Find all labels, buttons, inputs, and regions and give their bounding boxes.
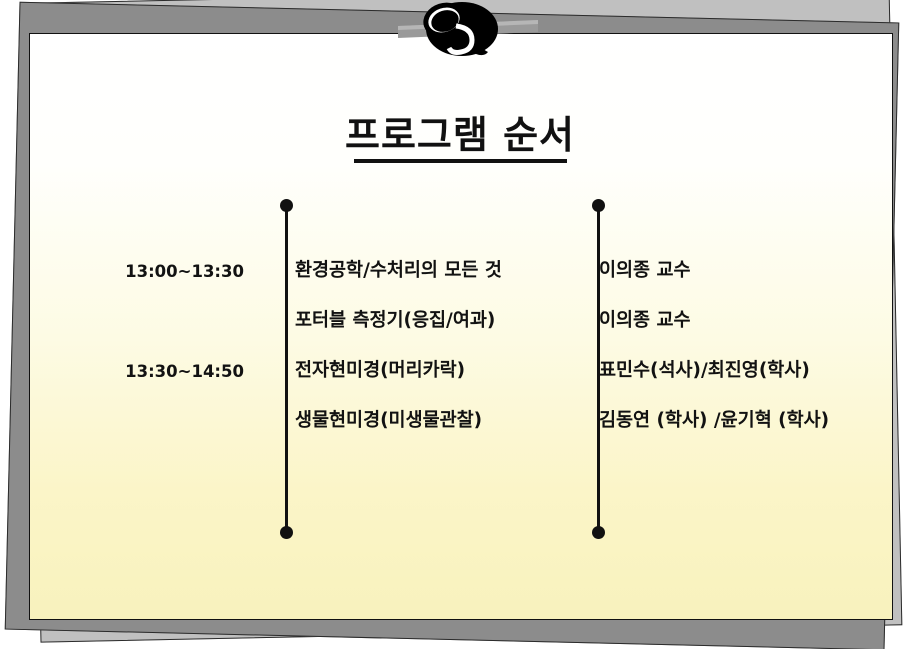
schedule-topic: 환경공학/수처리의 모든 것 bbox=[262, 262, 569, 281]
schedule-topic: 포터블 측정기(응집/여과) bbox=[262, 312, 569, 331]
schedule-speaker: 이의종 교수 bbox=[569, 312, 893, 331]
schedule-topic: 생물현미경(미생물관찰) bbox=[262, 412, 569, 431]
divider-dot-bottom-icon bbox=[592, 526, 605, 539]
schedule-speaker: 표민수(석사)/최진영(학사) bbox=[569, 362, 893, 381]
schedule-topic: 전자현미경(머리카락) bbox=[262, 362, 569, 381]
schedule-table: 13:00~13:30 환경공학/수처리의 모든 것 이의종 교수 포터블 측정… bbox=[29, 262, 893, 462]
slide-canvas: 프로그램 순서 13:00~13:30 환경공학/수처리의 모든 것 이의종 교… bbox=[0, 0, 920, 649]
divider-dot-top-icon bbox=[592, 199, 605, 212]
page-title-text: 프로그램 순서 bbox=[345, 113, 575, 157]
table-row: 생물현미경(미생물관찰) 김동연 (학사) /윤기혁 (학사) bbox=[29, 412, 893, 462]
schedule-speaker: 이의종 교수 bbox=[569, 262, 893, 281]
schedule-time: 13:30~14:50 bbox=[29, 362, 262, 381]
title-underline bbox=[354, 159, 567, 163]
page-title: 프로그램 순서 bbox=[0, 114, 920, 163]
table-row: 포터블 측정기(응집/여과) 이의종 교수 bbox=[29, 312, 893, 362]
divider-dot-bottom-icon bbox=[280, 526, 293, 539]
divider-dot-top-icon bbox=[280, 199, 293, 212]
schedule-speaker: 김동연 (학사) /윤기혁 (학사) bbox=[569, 412, 893, 431]
schedule-time: 13:00~13:30 bbox=[29, 262, 262, 281]
table-row: 13:30~14:50 전자현미경(머리카락) 표민수(석사)/최진영(학사) bbox=[29, 362, 893, 412]
schedule-time bbox=[29, 312, 262, 314]
table-row: 13:00~13:30 환경공학/수처리의 모든 것 이의종 교수 bbox=[29, 262, 893, 312]
schedule-time bbox=[29, 412, 262, 414]
